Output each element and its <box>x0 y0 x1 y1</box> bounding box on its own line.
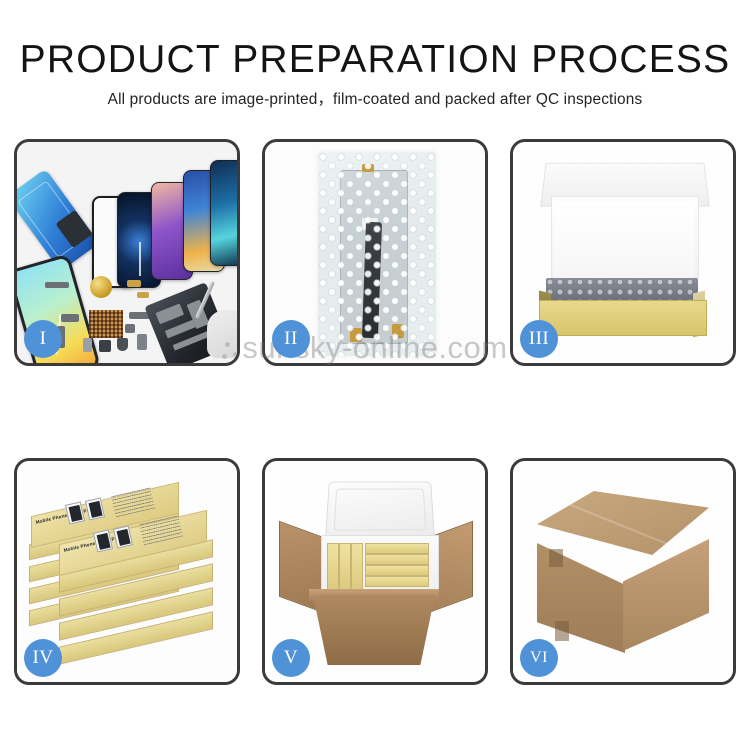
inner-box-3 <box>351 543 363 591</box>
foam-sheet <box>553 202 695 278</box>
carton-tape-top <box>549 549 563 567</box>
teal-phone <box>210 160 237 266</box>
bubble-texture <box>318 152 436 356</box>
part-strip-1 <box>45 282 69 288</box>
step-badge-4: IV <box>24 639 62 677</box>
carton-right-face <box>623 539 709 651</box>
part-strip-2 <box>61 314 79 322</box>
carton-front <box>313 595 435 665</box>
part-camera <box>99 340 111 352</box>
step-badge-3: III <box>520 320 558 358</box>
screw-1 <box>225 342 230 347</box>
step-badge-1: I <box>24 320 62 358</box>
part-button <box>83 338 92 352</box>
gold-coil-part <box>90 276 112 298</box>
header: PRODUCT PREPARATION PROCESS All products… <box>0 0 750 110</box>
box-front-panel <box>539 300 707 336</box>
page-subtitle: All products are image-printed，film-coat… <box>0 90 750 110</box>
panel-step-6: VI <box>510 458 736 685</box>
carton-tape-bottom <box>555 621 569 641</box>
inner-box-6 <box>365 565 429 576</box>
infographic-page: PRODUCT PREPARATION PROCESS All products… <box>0 0 750 750</box>
inner-box-5 <box>365 554 429 565</box>
part-speaker <box>117 338 128 351</box>
inner-box-4 <box>365 543 429 554</box>
part-gold-clip-2 <box>137 292 149 298</box>
crack-line <box>139 242 141 276</box>
panel-step-5: V <box>262 458 488 685</box>
process-grid: I II <box>14 139 736 685</box>
panel-step-2: II <box>262 139 488 366</box>
step-badge-6: VI <box>520 639 558 677</box>
panel-step-1: I <box>14 139 240 366</box>
part-connector <box>137 334 147 350</box>
inner-box-1 <box>327 543 339 591</box>
screw-3 <box>222 354 227 359</box>
step-badge-5: V <box>272 639 310 677</box>
inner-box-7 <box>365 576 429 587</box>
page-title: PRODUCT PREPARATION PROCESS <box>0 38 750 82</box>
foam-box-lid <box>325 481 435 538</box>
copper-mesh-part <box>89 310 123 338</box>
panel-step-3: III <box>510 139 736 366</box>
part-gold-clip <box>127 280 141 287</box>
hand <box>207 310 237 358</box>
inner-box-2 <box>339 543 351 591</box>
screw-2 <box>233 352 237 357</box>
step-badge-2: II <box>272 320 310 358</box>
part-strip-5 <box>125 324 135 333</box>
bubble-bag <box>318 152 436 356</box>
panel-step-4: Mobile Phone Spare Parts Mobile Phone Sp… <box>14 458 240 685</box>
